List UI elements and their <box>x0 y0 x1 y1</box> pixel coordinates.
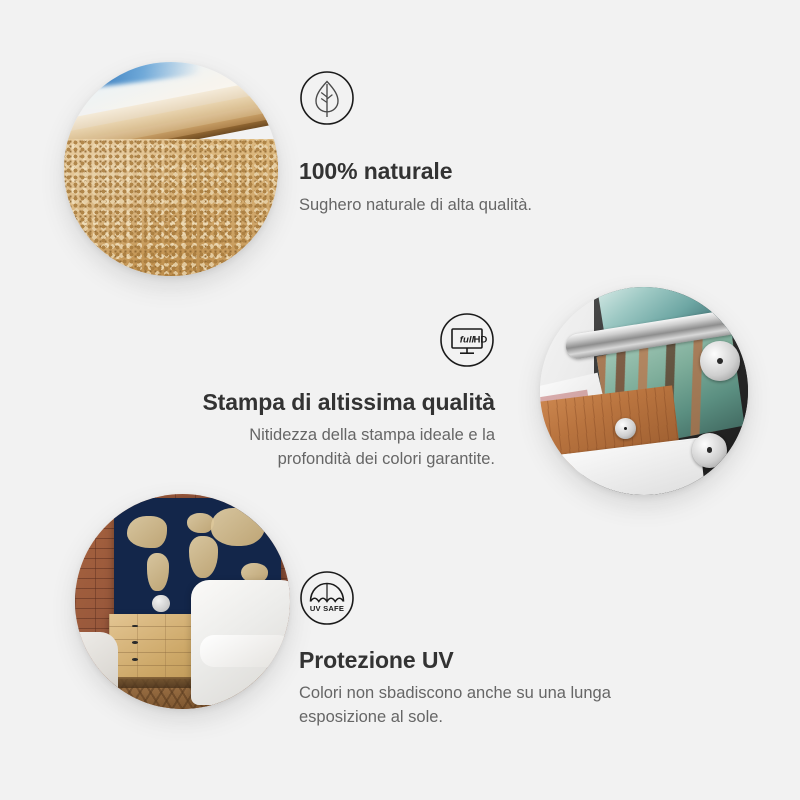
drawer-knob <box>132 641 138 644</box>
feature-uv-protection: UV SAFE Protezione UV Colori non sbadisc… <box>299 570 679 730</box>
feature-showcase: 100% naturale Sughero naturale di alta q… <box>0 0 800 800</box>
drawer-knob <box>132 658 138 661</box>
fullhd-label-regular: HD <box>474 335 488 346</box>
printing-machine-photo <box>540 287 748 495</box>
fullhd-label-italic: full <box>460 335 475 346</box>
feature-title: Stampa di altissima qualità <box>155 389 495 416</box>
decor-globe <box>152 595 169 612</box>
fullhd-monitor-icon: full HD <box>439 312 495 368</box>
feature-print-quality: full HD Stampa di altissima qualità Niti… <box>155 312 495 472</box>
continent-asia <box>211 508 265 545</box>
feature-description-line1: Colori non sbadiscono anche su una lunga <box>299 682 679 706</box>
roller-cap <box>692 433 727 468</box>
roller-cap <box>700 341 740 381</box>
white-armchair-secondary <box>75 632 118 709</box>
cork-texture <box>64 139 278 276</box>
feature-title: Protezione UV <box>299 647 679 674</box>
continent-africa <box>189 536 218 578</box>
continent-south-america <box>147 553 169 590</box>
cork-grain <box>64 139 278 276</box>
white-armchair <box>191 580 290 705</box>
continent-north-america <box>127 516 167 548</box>
feature-description: Sughero naturale di alta qualità. <box>299 194 639 218</box>
uv-safe-label: UV SAFE <box>310 604 344 613</box>
roller-cap <box>615 418 636 439</box>
feature-description-line2: esposizione al sole. <box>299 706 679 730</box>
cork-flooring-photo <box>64 62 278 276</box>
uv-safe-umbrella-icon: UV SAFE <box>299 570 355 626</box>
leaf-icon <box>299 70 355 126</box>
drawer-knob <box>132 625 138 628</box>
feature-description-line2: profondità dei colori garantite. <box>155 448 495 472</box>
feature-title: 100% naturale <box>299 158 639 185</box>
interior-world-map-photo <box>75 494 290 709</box>
feature-natural: 100% naturale Sughero naturale di alta q… <box>299 70 639 218</box>
feature-description-line1: Nitidezza della stampa ideale e la <box>155 424 495 448</box>
